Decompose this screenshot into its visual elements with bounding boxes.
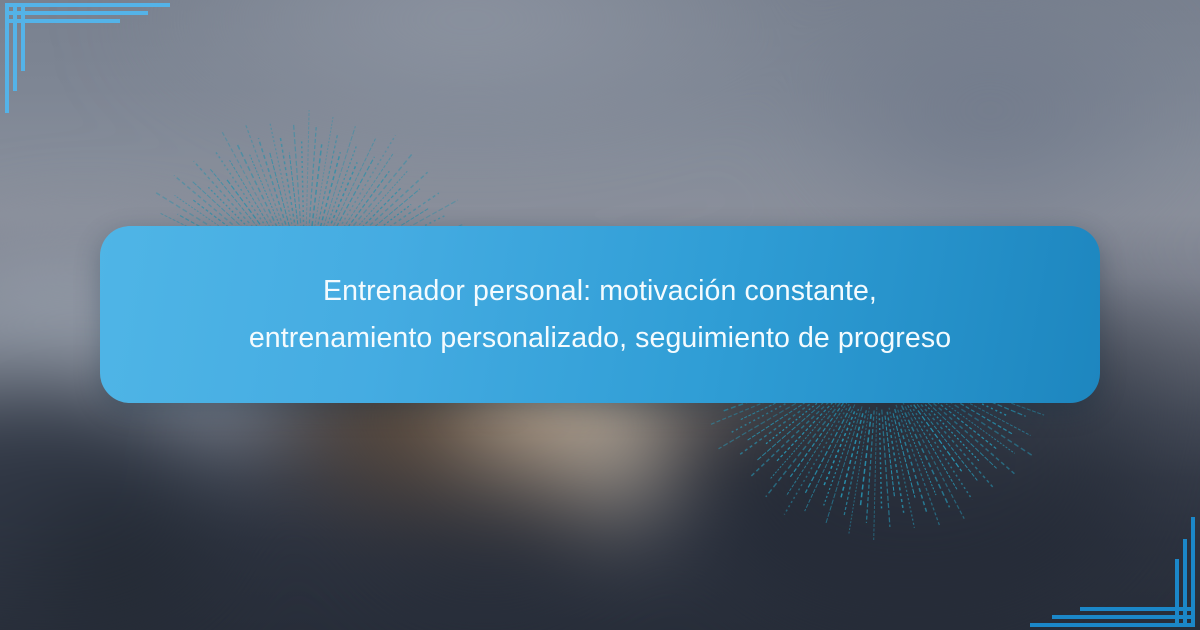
- bracket-line-horizontal: [5, 3, 170, 7]
- bracket-line-vertical: [1175, 559, 1179, 627]
- background-shape: [780, 0, 1200, 240]
- bracket-line-vertical: [21, 3, 25, 71]
- social-card-canvas: Entrenador personal: motivación constant…: [0, 0, 1200, 630]
- corner-bracket-bottom-right: [1000, 470, 1200, 630]
- bracket-line-vertical: [5, 3, 9, 113]
- background-shape: [120, 0, 820, 140]
- corner-bracket-top-left: [0, 0, 200, 160]
- bracket-line-horizontal: [1052, 615, 1195, 619]
- background-shape: [320, 440, 650, 630]
- bracket-line-vertical: [1183, 539, 1187, 627]
- bracket-line-vertical: [13, 3, 17, 91]
- headline-card: Entrenador personal: motivación constant…: [100, 226, 1100, 403]
- bracket-line-horizontal: [5, 11, 148, 15]
- headline-text: Entrenador personal: motivación constant…: [249, 268, 951, 360]
- bracket-line-vertical: [1191, 517, 1195, 627]
- bracket-line-horizontal: [1030, 623, 1195, 627]
